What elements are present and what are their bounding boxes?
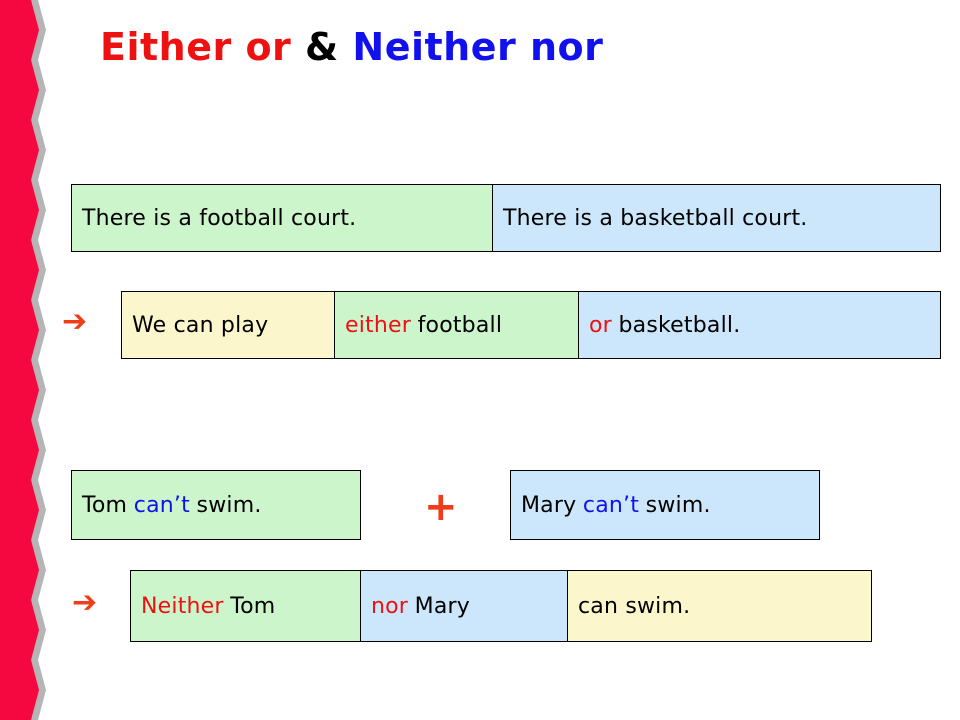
neither-cell-first-subject: Neither Tom: [130, 570, 361, 642]
title-part-neither-nor: Neither nor: [352, 25, 603, 69]
fact-text-tom: Tom: [82, 493, 127, 518]
fact-cell-mary: Mary can’t swim.: [510, 470, 820, 540]
neither-text-can-swim: can swim.: [578, 594, 690, 619]
fact-text-mary-swim: swim.: [646, 493, 711, 518]
left-zigzag-border: [0, 0, 52, 720]
fact-text-basketball: There is a basketball court.: [503, 206, 808, 231]
either-text-we-can-play: We can play: [132, 313, 268, 338]
title-part-either-or: Either or: [100, 25, 291, 69]
slide-canvas: Either or & Neither nor There is a footb…: [0, 0, 960, 720]
either-cell-first-option: either football: [334, 291, 579, 359]
fact-cell-football: There is a football court.: [71, 184, 493, 252]
either-facts-row: There is a football court. There is a ba…: [71, 184, 941, 252]
fact-text-football: There is a football court.: [82, 206, 356, 231]
fact-text-mary: Mary: [521, 493, 576, 518]
neither-cell-predicate: can swim.: [567, 570, 872, 642]
arrow-right-icon: ➔: [62, 307, 87, 337]
either-text-basketball: basketball.: [619, 313, 741, 338]
keyword-nor: nor: [371, 594, 408, 619]
fact-cell-basketball: There is a basketball court.: [492, 184, 941, 252]
either-cell-subject: We can play: [121, 291, 335, 359]
keyword-cant-mary: can’t: [583, 493, 639, 518]
keyword-cant-tom: can’t: [134, 493, 190, 518]
fact-text-tom-swim: swim.: [197, 493, 262, 518]
neither-result-row: Neither Tom nor Mary can swim.: [130, 570, 872, 642]
neither-cell-second-subject: nor Mary: [360, 570, 568, 642]
keyword-either: either: [345, 313, 411, 338]
either-cell-second-option: or basketball.: [578, 291, 941, 359]
plus-icon: +: [424, 487, 458, 527]
neither-text-mary: Mary: [415, 594, 470, 619]
arrow-right-icon: ➔: [72, 588, 97, 618]
neither-text-tom: Tom: [230, 594, 275, 619]
neither-facts-row-right: Mary can’t swim.: [510, 470, 820, 540]
page-title: Either or & Neither nor: [100, 26, 603, 70]
neither-facts-row-left: Tom can’t swim.: [71, 470, 361, 540]
zigzag-shape-icon: [0, 0, 52, 720]
keyword-neither: Neither: [141, 594, 224, 619]
keyword-or: or: [589, 313, 612, 338]
either-result-row: We can play either football or basketbal…: [121, 291, 941, 359]
fact-cell-tom: Tom can’t swim.: [71, 470, 361, 540]
title-part-ampersand: &: [305, 25, 339, 69]
either-text-football: football: [418, 313, 503, 338]
